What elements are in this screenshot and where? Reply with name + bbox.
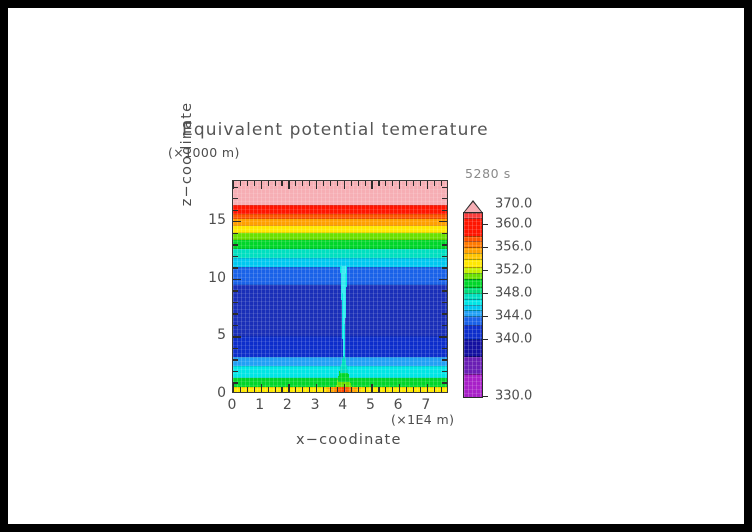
contour-band bbox=[233, 285, 447, 337]
contour-line bbox=[233, 218, 447, 219]
tick-mark bbox=[323, 181, 324, 186]
tick-mark bbox=[281, 387, 282, 392]
x-tick-label: 7 bbox=[421, 397, 430, 413]
warm-plume bbox=[343, 356, 344, 358]
tick-mark bbox=[441, 181, 442, 186]
colorbar-tick-mark bbox=[483, 293, 488, 294]
tick-mark bbox=[406, 181, 407, 186]
tick-mark bbox=[268, 181, 269, 186]
tick-mark bbox=[316, 384, 317, 392]
tick-mark bbox=[406, 387, 407, 392]
tick-mark bbox=[233, 187, 238, 188]
tick-mark bbox=[439, 221, 447, 222]
tick-mark bbox=[240, 387, 241, 392]
tick-mark bbox=[385, 181, 386, 186]
colorbar-tick-label: 370.0 bbox=[495, 197, 532, 212]
tick-mark bbox=[233, 302, 238, 303]
tick-mark bbox=[442, 302, 447, 303]
tick-mark bbox=[344, 181, 345, 189]
colorbar-tick-label: 340.0 bbox=[495, 331, 532, 346]
colorbar-tick-label: 330.0 bbox=[495, 389, 532, 404]
tick-mark bbox=[399, 384, 400, 392]
tick-mark bbox=[442, 382, 447, 383]
tick-mark bbox=[442, 359, 447, 360]
tick-mark bbox=[337, 387, 338, 392]
tick-mark bbox=[442, 348, 447, 349]
x-tick-label: 6 bbox=[394, 397, 403, 413]
y-tick-label: 15 bbox=[206, 212, 226, 228]
contour-line bbox=[233, 225, 447, 226]
colorbar-tick-mark bbox=[483, 396, 488, 397]
x-tick-label: 0 bbox=[228, 397, 237, 413]
tick-mark bbox=[330, 181, 331, 186]
tick-mark bbox=[442, 198, 447, 199]
colorbar-tick-label: 356.0 bbox=[495, 239, 532, 254]
tick-mark bbox=[233, 279, 241, 280]
tick-mark bbox=[233, 221, 241, 222]
tick-mark bbox=[288, 384, 289, 392]
y-tick-label: 10 bbox=[206, 270, 226, 286]
tick-mark bbox=[268, 387, 269, 392]
tick-mark bbox=[442, 313, 447, 314]
x-tick-label: 4 bbox=[338, 397, 347, 413]
tick-mark bbox=[358, 181, 359, 186]
tick-mark bbox=[399, 181, 400, 189]
tick-mark bbox=[233, 267, 238, 268]
tick-mark bbox=[261, 181, 262, 189]
cool-intrusion-core bbox=[342, 266, 346, 269]
tick-mark bbox=[254, 387, 255, 392]
x-tick-label: 5 bbox=[366, 397, 375, 413]
tick-mark bbox=[233, 256, 238, 257]
contour-line bbox=[233, 258, 447, 259]
chart-title: Equivalent potential temerature bbox=[182, 120, 489, 140]
tick-mark bbox=[351, 387, 352, 392]
tick-mark bbox=[233, 290, 238, 291]
colorbar-tick-mark bbox=[483, 270, 488, 271]
tick-mark bbox=[378, 181, 379, 186]
tick-mark bbox=[288, 181, 289, 189]
tick-mark bbox=[385, 387, 386, 392]
tick-mark bbox=[442, 267, 447, 268]
tick-mark bbox=[323, 387, 324, 392]
colorbar-tick-label: 348.0 bbox=[495, 285, 532, 300]
colorbar-tick-label: 360.0 bbox=[495, 216, 532, 231]
tick-mark bbox=[295, 387, 296, 392]
tick-mark bbox=[233, 359, 238, 360]
tick-mark bbox=[351, 181, 352, 186]
tick-mark bbox=[316, 181, 317, 189]
tick-mark bbox=[413, 181, 414, 186]
tick-mark bbox=[378, 387, 379, 392]
tick-mark bbox=[442, 244, 447, 245]
tick-mark bbox=[247, 181, 248, 186]
colorbar-texture-overlay bbox=[464, 213, 482, 397]
tick-mark bbox=[420, 387, 421, 392]
tick-mark bbox=[439, 336, 447, 337]
tick-mark bbox=[330, 387, 331, 392]
tick-mark bbox=[254, 181, 255, 186]
colorbar-tick-label: 344.0 bbox=[495, 308, 532, 323]
tick-mark bbox=[240, 181, 241, 186]
figure-canvas: Equivalent potential temerature (×1000 m… bbox=[8, 8, 744, 524]
tick-mark bbox=[392, 181, 393, 186]
contour-line bbox=[233, 336, 447, 337]
tick-mark bbox=[302, 387, 303, 392]
colorbar-gradient bbox=[463, 212, 483, 398]
tick-mark bbox=[275, 387, 276, 392]
plot-area bbox=[232, 180, 448, 393]
tick-mark bbox=[420, 181, 421, 186]
tick-mark bbox=[309, 181, 310, 186]
tick-mark bbox=[442, 371, 447, 372]
contour-line bbox=[233, 357, 447, 358]
tick-mark bbox=[427, 384, 428, 392]
tick-mark bbox=[442, 210, 447, 211]
tick-mark bbox=[233, 371, 238, 372]
tick-mark bbox=[247, 387, 248, 392]
tick-mark bbox=[365, 387, 366, 392]
contour-line bbox=[233, 214, 447, 215]
tick-mark bbox=[233, 382, 238, 383]
tick-mark bbox=[365, 181, 366, 186]
tick-mark bbox=[427, 181, 428, 189]
contour-band bbox=[233, 336, 447, 357]
tick-mark bbox=[441, 387, 442, 392]
x-axis-title: x−coodinate bbox=[296, 432, 402, 448]
colorbar-tick-mark bbox=[483, 339, 488, 340]
tick-mark bbox=[281, 181, 282, 186]
tick-mark bbox=[434, 181, 435, 186]
x-tick-label: 2 bbox=[283, 397, 292, 413]
tick-mark bbox=[337, 181, 338, 186]
x-tick-label: 3 bbox=[311, 397, 320, 413]
x-tick-label: 1 bbox=[255, 397, 264, 413]
colorbar-tick-mark bbox=[483, 224, 488, 225]
tick-mark bbox=[371, 384, 372, 392]
colorbar-tick-mark bbox=[483, 316, 488, 317]
time-stamp-annotation: 5280 s bbox=[465, 166, 511, 181]
contour-field bbox=[233, 181, 447, 392]
tick-mark bbox=[434, 387, 435, 392]
x-axis-units-label: (×1E4 m) bbox=[391, 412, 454, 427]
tick-mark bbox=[309, 387, 310, 392]
tick-mark bbox=[358, 387, 359, 392]
tick-mark bbox=[439, 279, 447, 280]
tick-mark bbox=[295, 181, 296, 186]
tick-mark bbox=[344, 384, 345, 392]
contour-line bbox=[233, 232, 447, 233]
tick-mark bbox=[261, 384, 262, 392]
tick-mark bbox=[442, 187, 447, 188]
tick-mark bbox=[302, 181, 303, 186]
tick-mark bbox=[233, 348, 238, 349]
tick-mark bbox=[392, 387, 393, 392]
tick-mark bbox=[233, 198, 238, 199]
colorbar-tick-label: 352.0 bbox=[495, 262, 532, 277]
contour-line bbox=[233, 248, 447, 249]
y-tick-label: 0 bbox=[206, 385, 226, 401]
tick-mark bbox=[233, 313, 238, 314]
contour-line bbox=[233, 239, 447, 240]
tick-mark bbox=[442, 290, 447, 291]
tick-mark bbox=[233, 244, 238, 245]
tick-mark bbox=[275, 181, 276, 186]
y-tick-label: 5 bbox=[206, 327, 226, 343]
tick-mark bbox=[233, 384, 234, 392]
tick-mark bbox=[442, 256, 447, 257]
tick-mark bbox=[442, 325, 447, 326]
tick-mark bbox=[233, 210, 238, 211]
contour-band bbox=[233, 181, 447, 205]
contour-line bbox=[233, 205, 447, 206]
tick-mark bbox=[371, 181, 372, 189]
tick-mark bbox=[233, 325, 238, 326]
colorbar-tick-mark bbox=[483, 247, 488, 248]
tick-mark bbox=[413, 387, 414, 392]
tick-mark bbox=[233, 336, 241, 337]
tick-mark bbox=[233, 233, 238, 234]
y-axis-title: z−coodinate bbox=[179, 84, 195, 224]
tick-mark bbox=[442, 233, 447, 234]
